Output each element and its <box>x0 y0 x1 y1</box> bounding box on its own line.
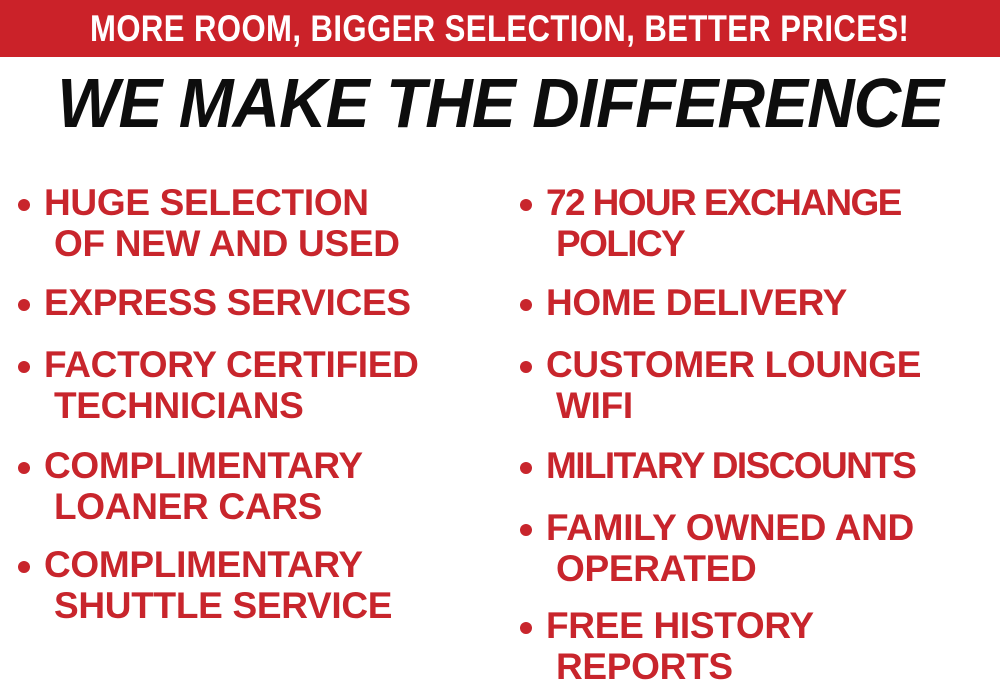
bullet-dot-icon <box>18 361 30 373</box>
bullet-dot-icon <box>520 622 532 634</box>
list-item-label: FACTORY CERTIFIED TECHNICIANS <box>44 344 419 426</box>
bullet-dot-icon <box>520 299 532 311</box>
list-item-line1: FAMILY OWNED AND <box>546 507 914 548</box>
bullet-dot-icon <box>520 462 532 474</box>
page-title: WE MAKE THE DIFFERENCE <box>0 68 1000 138</box>
bullet-dot-icon <box>520 199 532 211</box>
list-item-line2: OF NEW AND USED <box>44 223 400 264</box>
list-item: 72 HOUR EXCHANGE POLICY <box>520 182 901 264</box>
list-item-label: EXPRESS SERVICES <box>44 282 411 323</box>
bullet-dot-icon <box>18 561 30 573</box>
list-item: HUGE SELECTION OF NEW AND USED <box>18 182 400 264</box>
benefits-columns: HUGE SELECTION OF NEW AND USED EXPRESS S… <box>0 160 1000 694</box>
list-item-line2: WIFI <box>546 385 921 426</box>
list-item-label: FREE HISTORY REPORTS <box>546 605 814 687</box>
list-item-line1: COMPLIMENTARY <box>44 544 363 585</box>
list-item: MILITARY DISCOUNTS <box>520 445 915 486</box>
list-item: FACTORY CERTIFIED TECHNICIANS <box>18 344 419 426</box>
list-item-line1: COMPLIMENTARY <box>44 445 363 486</box>
list-item-line1: MILITARY DISCOUNTS <box>546 445 915 486</box>
list-item-line2: REPORTS <box>546 646 814 687</box>
banner-headline: MORE ROOM, BIGGER SELECTION, BETTER PRIC… <box>90 10 909 47</box>
list-item: FAMILY OWNED AND OPERATED <box>520 507 914 589</box>
list-item-line2: LOANER CARS <box>44 486 363 527</box>
list-item-label: COMPLIMENTARY SHUTTLE SERVICE <box>44 544 392 626</box>
page-title-text: WE MAKE THE DIFFERENCE <box>57 68 943 138</box>
list-item-line1: FACTORY CERTIFIED <box>44 344 419 385</box>
list-item-label: HUGE SELECTION OF NEW AND USED <box>44 182 400 264</box>
list-item-line1: CUSTOMER LOUNGE <box>546 344 921 385</box>
list-item: EXPRESS SERVICES <box>18 282 411 323</box>
bullet-dot-icon <box>520 524 532 536</box>
list-item-line1: FREE HISTORY <box>546 605 814 646</box>
list-item-line2: TECHNICIANS <box>44 385 419 426</box>
list-item-line2: OPERATED <box>546 548 914 589</box>
list-item: COMPLIMENTARY LOANER CARS <box>18 445 363 527</box>
list-item-label: CUSTOMER LOUNGE WIFI <box>546 344 921 426</box>
top-banner: MORE ROOM, BIGGER SELECTION, BETTER PRIC… <box>0 0 1000 57</box>
poster: MORE ROOM, BIGGER SELECTION, BETTER PRIC… <box>0 0 1000 694</box>
list-item-line1: EXPRESS SERVICES <box>44 282 411 323</box>
bullet-dot-icon <box>18 299 30 311</box>
list-item-line1: HOME DELIVERY <box>546 282 847 323</box>
list-item-label: MILITARY DISCOUNTS <box>546 445 915 486</box>
benefits-column-right: 72 HOUR EXCHANGE POLICY HOME DELIVERY CU… <box>500 160 1000 694</box>
list-item: HOME DELIVERY <box>520 282 847 323</box>
bullet-dot-icon <box>520 361 532 373</box>
list-item-label: 72 HOUR EXCHANGE POLICY <box>546 182 901 264</box>
list-item-label: COMPLIMENTARY LOANER CARS <box>44 445 363 527</box>
list-item-line2: SHUTTLE SERVICE <box>44 585 392 626</box>
list-item-line1: HUGE SELECTION <box>44 182 369 223</box>
list-item: FREE HISTORY REPORTS <box>520 605 814 687</box>
list-item-line1: 72 HOUR EXCHANGE <box>546 182 901 223</box>
list-item-line2: POLICY <box>546 223 901 264</box>
benefits-column-left: HUGE SELECTION OF NEW AND USED EXPRESS S… <box>0 160 500 694</box>
list-item: CUSTOMER LOUNGE WIFI <box>520 344 921 426</box>
list-item-label: FAMILY OWNED AND OPERATED <box>546 507 914 589</box>
list-item-label: HOME DELIVERY <box>546 282 847 323</box>
list-item: COMPLIMENTARY SHUTTLE SERVICE <box>18 544 392 626</box>
bullet-dot-icon <box>18 462 30 474</box>
bullet-dot-icon <box>18 199 30 211</box>
